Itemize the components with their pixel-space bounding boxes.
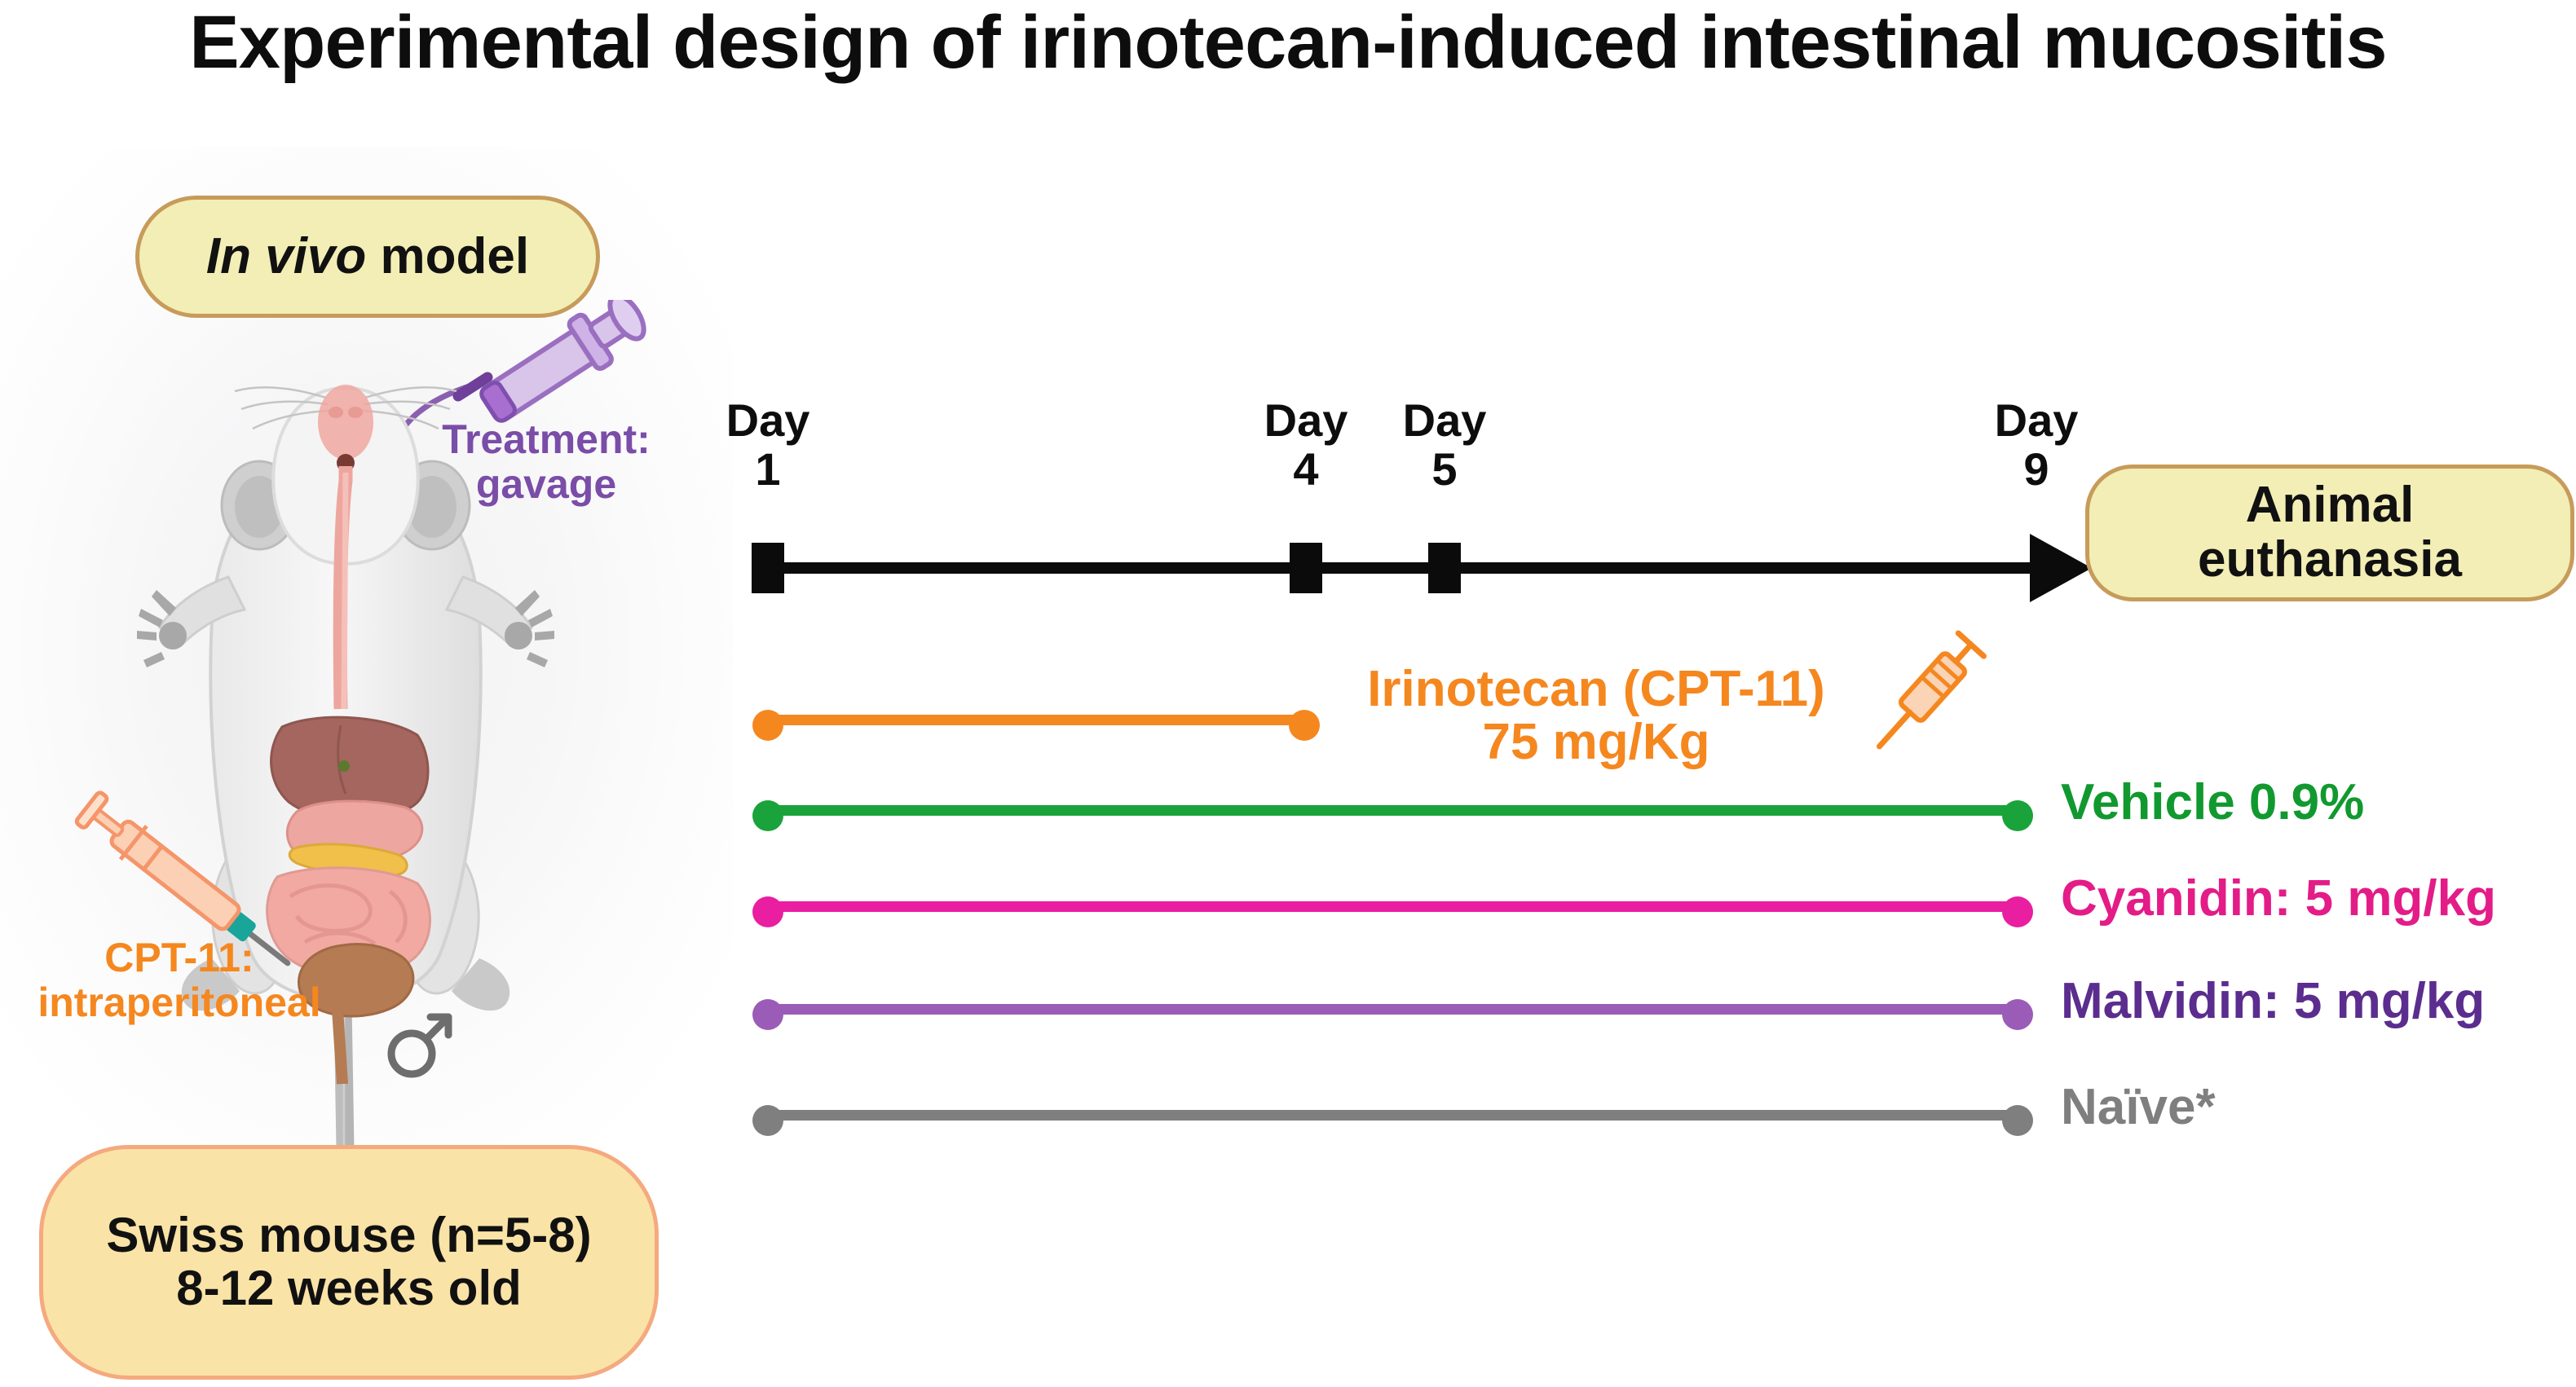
series-end-dot-naive — [2002, 1105, 2033, 1136]
series-line-irinotecan — [768, 715, 1304, 725]
timeline-label-day-5: Day 5 — [1355, 398, 1534, 492]
irinotecan-label-line2: 75 mg/Kg — [1343, 716, 1849, 768]
page-title: Experimental design of irinotecan-induce… — [0, 5, 2576, 80]
cpt11-route-label: CPT-11: intraperitoneal — [16, 936, 342, 1025]
in-vivo-italic-text: In vivo — [206, 228, 366, 284]
series-start-dot-malvidin — [752, 999, 783, 1030]
cpt11-label-line1: CPT-11: — [16, 936, 342, 980]
timeline-label-day-1: Day 1 — [678, 398, 858, 492]
series-line-naive — [768, 1110, 2018, 1121]
mouse-info-line2: 8-12 weeks old — [176, 1262, 522, 1315]
series-start-dot-cyanidin — [752, 896, 783, 927]
series-label-cyanidin: Cyanidin: 5 mg/kg — [2061, 872, 2496, 927]
series-label-naive: Naïve* — [2061, 1081, 2216, 1135]
series-line-vehicle — [768, 805, 2018, 816]
animal-euthanasia-box: Animal euthanasia — [2085, 465, 2574, 601]
timeline-tick-day-5 — [1428, 543, 1461, 593]
day-5-number: 5 — [1355, 447, 1534, 492]
series-end-dot-cyanidin — [2002, 896, 2033, 927]
series-start-dot-vehicle — [752, 800, 783, 831]
series-label-vehicle: Vehicle 0.9% — [2061, 776, 2364, 830]
series-line-cyanidin — [768, 901, 2018, 912]
day-1-number: 1 — [678, 447, 858, 492]
timeline-axis — [752, 562, 2056, 574]
series-end-dot-vehicle — [2002, 800, 2033, 831]
cpt11-label-line2: intraperitoneal — [16, 980, 342, 1025]
series-line-malvidin — [768, 1004, 2018, 1015]
day-4-word: Day — [1264, 394, 1348, 446]
timeline-arrowhead — [2030, 534, 2092, 602]
day-1-word: Day — [726, 394, 810, 446]
mouse-info-line1: Swiss mouse (n=5-8) — [106, 1209, 591, 1262]
series-start-dot-irinotecan — [752, 710, 783, 741]
series-label-malvidin: Malvidin: 5 mg/kg — [2061, 975, 2485, 1029]
day-5-word: Day — [1403, 394, 1487, 446]
irinotecan-label-line1: Irinotecan (CPT-11) — [1343, 663, 1849, 716]
figure-canvas: Experimental design of irinotecan-induce… — [0, 0, 2576, 1387]
series-end-dot-irinotecan — [1289, 710, 1320, 741]
syringe-orange-small-icon — [1849, 613, 2004, 776]
euthanasia-line1: Animal — [2246, 478, 2415, 533]
timeline-tick-day-1 — [752, 543, 784, 593]
series-start-dot-naive — [752, 1105, 783, 1136]
series-label-irinotecan: Irinotecan (CPT-11) 75 mg/Kg — [1343, 663, 1849, 768]
in-vivo-regular-text: model — [366, 228, 529, 284]
day-9-word: Day — [1995, 394, 2079, 446]
timeline-tick-day-4 — [1290, 543, 1322, 593]
mouse-info-box: Swiss mouse (n=5-8) 8-12 weeks old — [39, 1145, 659, 1380]
series-end-dot-malvidin — [2002, 999, 2033, 1030]
male-sex-icon — [383, 1009, 457, 1082]
euthanasia-line2: euthanasia — [2198, 533, 2462, 588]
